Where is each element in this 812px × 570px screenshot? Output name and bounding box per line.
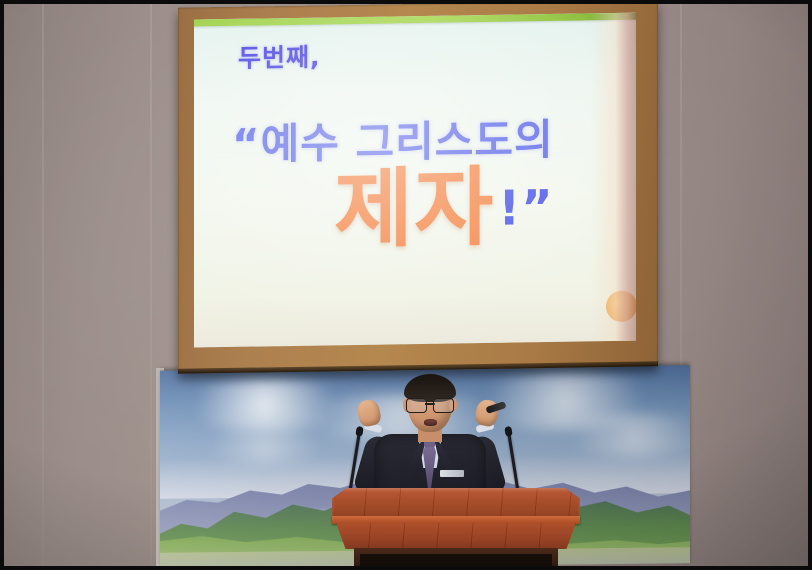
presentation-slide: 두번째, “예수 그리스도의 제자!” [194,13,636,348]
pulpit-edge-lip [332,516,580,524]
speaker-mouth [424,419,437,426]
pulpit-wood-grain [336,523,576,549]
wooden-pulpit [332,488,580,570]
speaker-hand-left [356,398,383,428]
speaker-name-badge [440,470,464,477]
eyeglass-lens-left [406,398,427,413]
projection-screen-surface: 두번째, “예수 그리스도의 제자!” [194,13,636,348]
pulpit-top-panel [332,488,580,518]
eyeglasses-icon [406,398,454,411]
pulpit-base-shadow [360,554,552,570]
eyeglass-lens-right [433,398,454,413]
pulpit-front-panel [336,523,576,549]
projection-vignette [194,13,636,348]
pulpit-wood-grain [332,488,580,518]
projector-screen-wooden-frame: 두번째, “예수 그리스도의 제자!” [178,0,658,374]
projection-edge-falloff [590,13,636,342]
photograph: 두번째, “예수 그리스도의 제자!” [0,0,812,570]
